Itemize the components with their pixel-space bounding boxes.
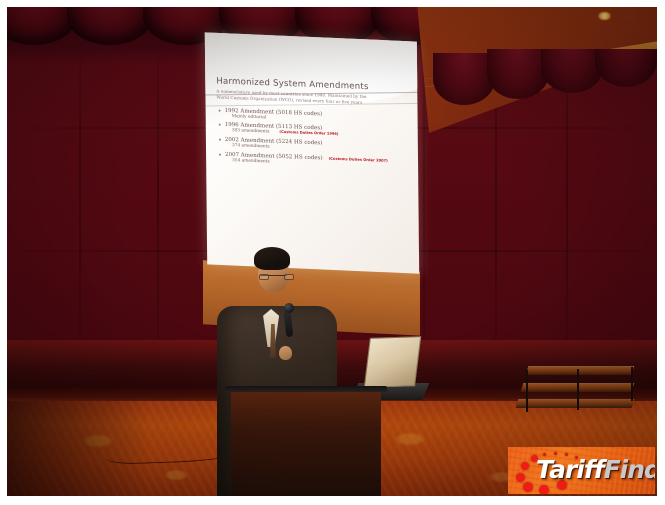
spotlight-icon: [598, 12, 611, 20]
slide-content: Harmonized System Amendments A nomenclat…: [205, 33, 419, 274]
projection-screen: Harmonized System Amendments A nomenclat…: [205, 33, 419, 274]
bullet-sub-text: 393 amendments: [231, 130, 269, 136]
presentation-photo: Harmonized System Amendments A nomenclat…: [7, 7, 657, 496]
portable-stage-steps: [517, 362, 641, 421]
podium: [231, 391, 381, 496]
slide-bullet-list: 1992 Amendment (5018 HS codes) Mainly ed…: [216, 107, 409, 171]
laptop-screen: [364, 336, 421, 387]
bullet-dot-icon: [219, 153, 221, 155]
bullet-note-text: (Customs Duties Order 1996): [279, 130, 338, 136]
bullet-dot-icon: [218, 109, 220, 111]
bullet-dot-icon: [218, 139, 220, 141]
bullet-dot-icon: [218, 124, 220, 126]
logo-text-secondary: Finder: [604, 455, 655, 484]
microphone-head: [284, 303, 294, 313]
glasses-lens-left: [259, 274, 269, 280]
tarifffinder-logo[interactable]: TariffFinder: [508, 447, 655, 494]
glasses-lens-right: [284, 274, 294, 280]
podium-top-surface: [225, 386, 386, 392]
list-item: 2007 Amendment (5052 HS codes) (Customs …: [224, 152, 409, 170]
logo-text-primary: Tariff: [536, 455, 604, 484]
photo-frame: Harmonized System Amendments A nomenclat…: [0, 0, 665, 505]
logo-text: TariffFinder: [536, 456, 655, 483]
presenter-hair: [254, 247, 290, 270]
